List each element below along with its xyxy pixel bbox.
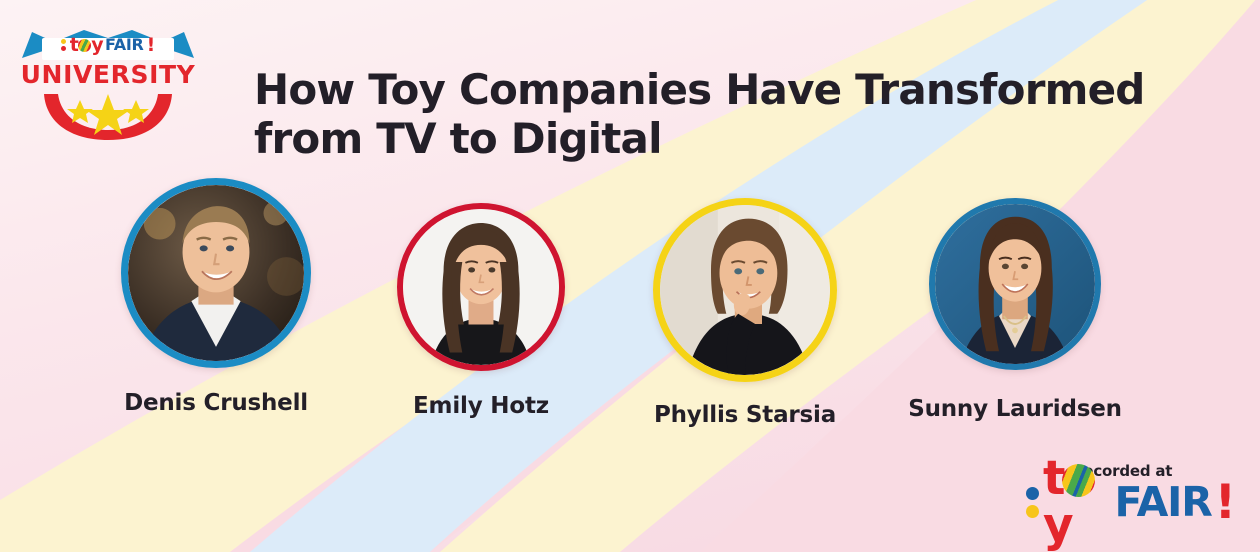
two-dots-icon [1026,487,1039,518]
avatar [121,178,311,368]
two-dots-icon [61,39,66,51]
brand-toy-text: ty [1043,455,1114,549]
university-label: UNIVERSITY [18,60,198,89]
speaker-name: Phyllis Starsia [620,402,870,428]
speaker-name: Sunny Lauridsen [890,396,1140,422]
shield-swoosh-stars-icon [40,92,176,142]
speaker-name: Emily Hotz [366,393,596,419]
brand-exclamation-text: ! [147,36,156,55]
brand-fair-text: FAIR [105,37,144,53]
brand-fair-text: FAIR [1115,482,1212,523]
page-title: How Toy Companies Have Transformed from … [254,66,1154,163]
speaker-name: Denis Crushell [96,390,336,416]
title-line-2: from TV to Digital [254,115,1154,164]
speaker-card-emily-hotz: Emily Hotz [366,203,596,419]
beach-ball-icon [78,39,91,52]
recorded-at-toy-fair-logo: Recorded at ty FAIR ! [1026,462,1236,534]
toy-fair-university-logo: ty FAIR ! UNIVERSITY [18,14,198,142]
brand-toy-text: ty [70,36,103,55]
toy-fair-wordmark-small: ty FAIR ! [44,31,172,59]
speaker-card-sunny-lauridsen: Sunny Lauridsen [890,198,1140,422]
toy-fair-wordmark: ty FAIR ! [1026,478,1236,526]
beach-ball-icon [1062,464,1095,497]
avatar [653,198,837,382]
headshot-denis-crushell [128,185,304,361]
headshot-emily-hotz [403,209,559,365]
headshot-sunny-lauridsen [935,204,1095,364]
presentation-slide: ty FAIR ! UNIVERSITY How Toy Companies H… [0,0,1260,552]
brand-exclamation-text: ! [1215,479,1236,526]
avatar [929,198,1101,370]
avatar [397,203,565,371]
speaker-card-phyllis-starsia: Phyllis Starsia [620,198,870,428]
headshot-phyllis-starsia [660,205,830,375]
title-line-1: How Toy Companies Have Transformed [254,66,1154,115]
speaker-card-denis-crushell: Denis Crushell [96,178,336,416]
speaker-list: Denis Crushell [0,178,1260,438]
